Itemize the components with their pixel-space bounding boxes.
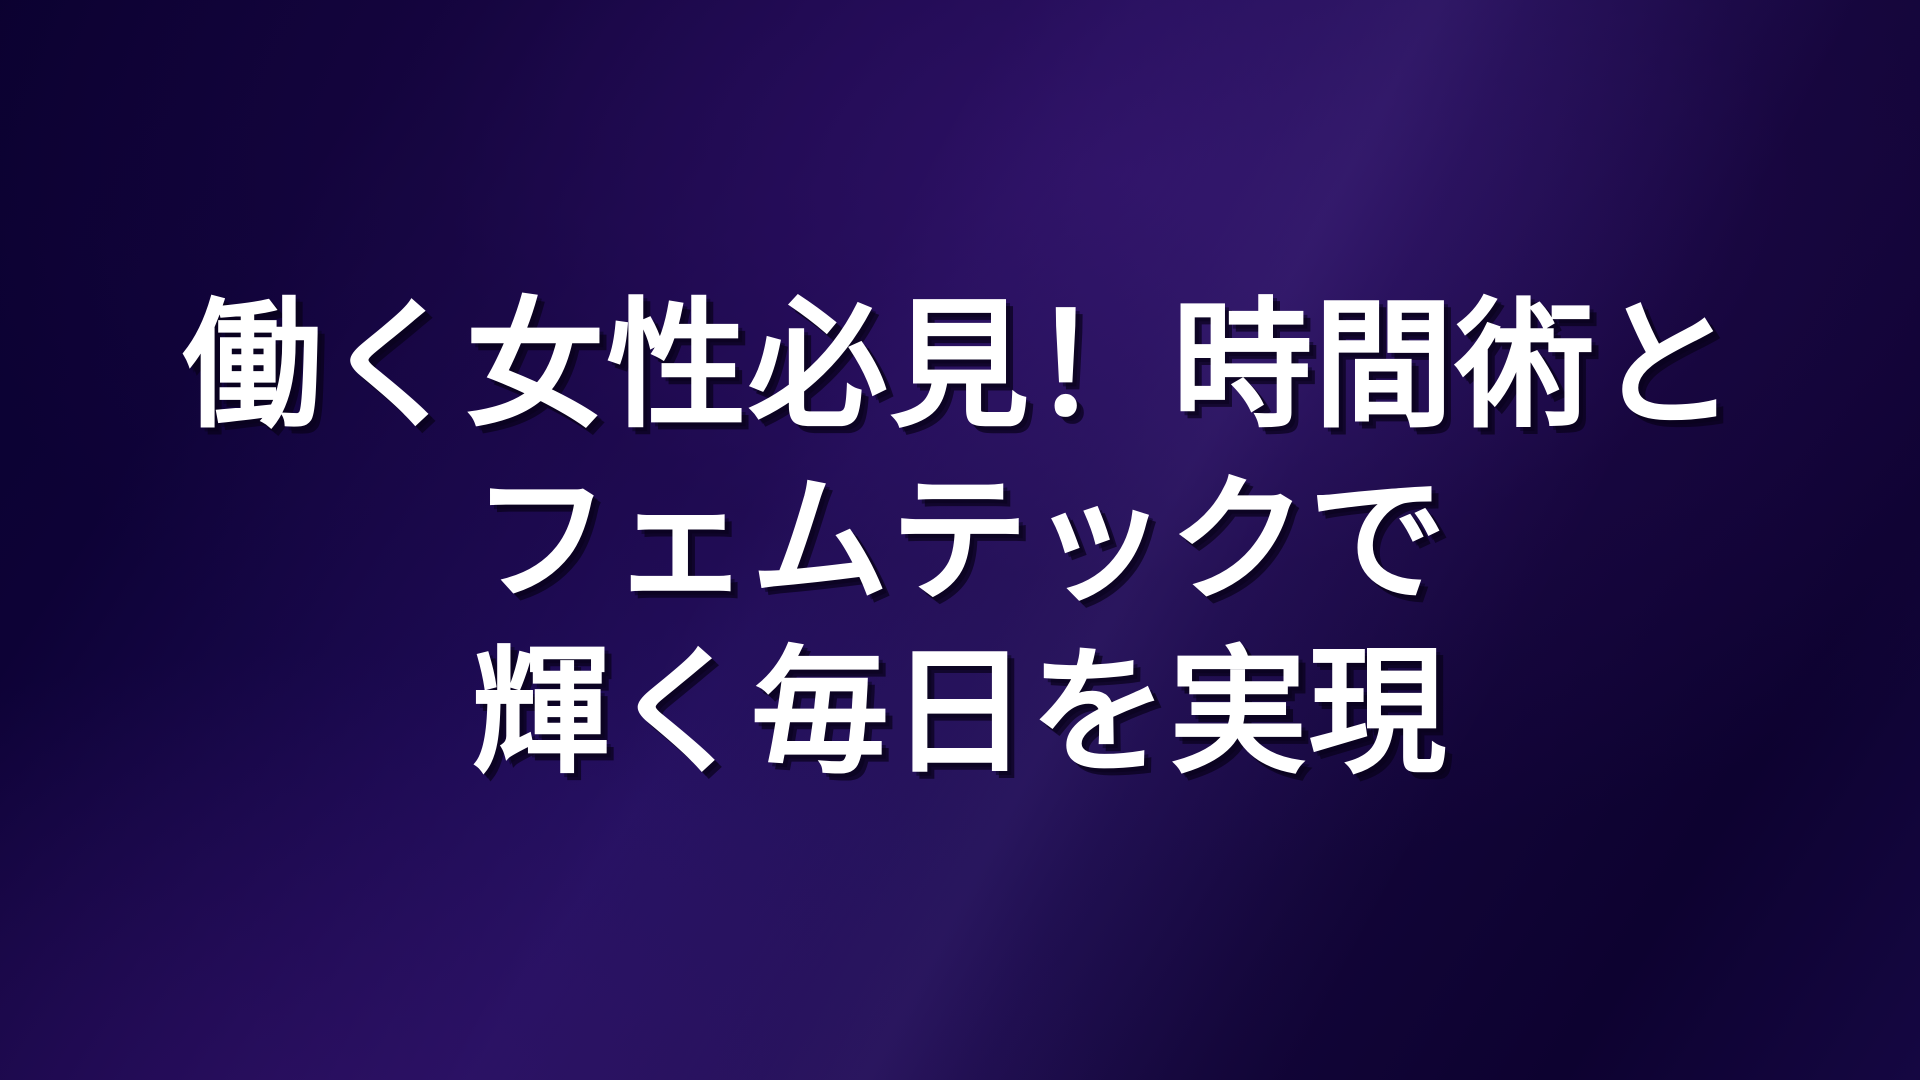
headline-block: 働く女性必見！時間術と フェムテックで 輝く毎日を実現: [0, 0, 1920, 1080]
headline-line-1: 働く女性必見！時間術と: [182, 282, 1737, 453]
title-slide: 働く女性必見！時間術と フェムテックで 輝く毎日を実現: [0, 0, 1920, 1080]
headline-line-3: 輝く毎日を実現: [472, 629, 1448, 797]
headline-line-2: フェムテックで: [472, 457, 1448, 625]
